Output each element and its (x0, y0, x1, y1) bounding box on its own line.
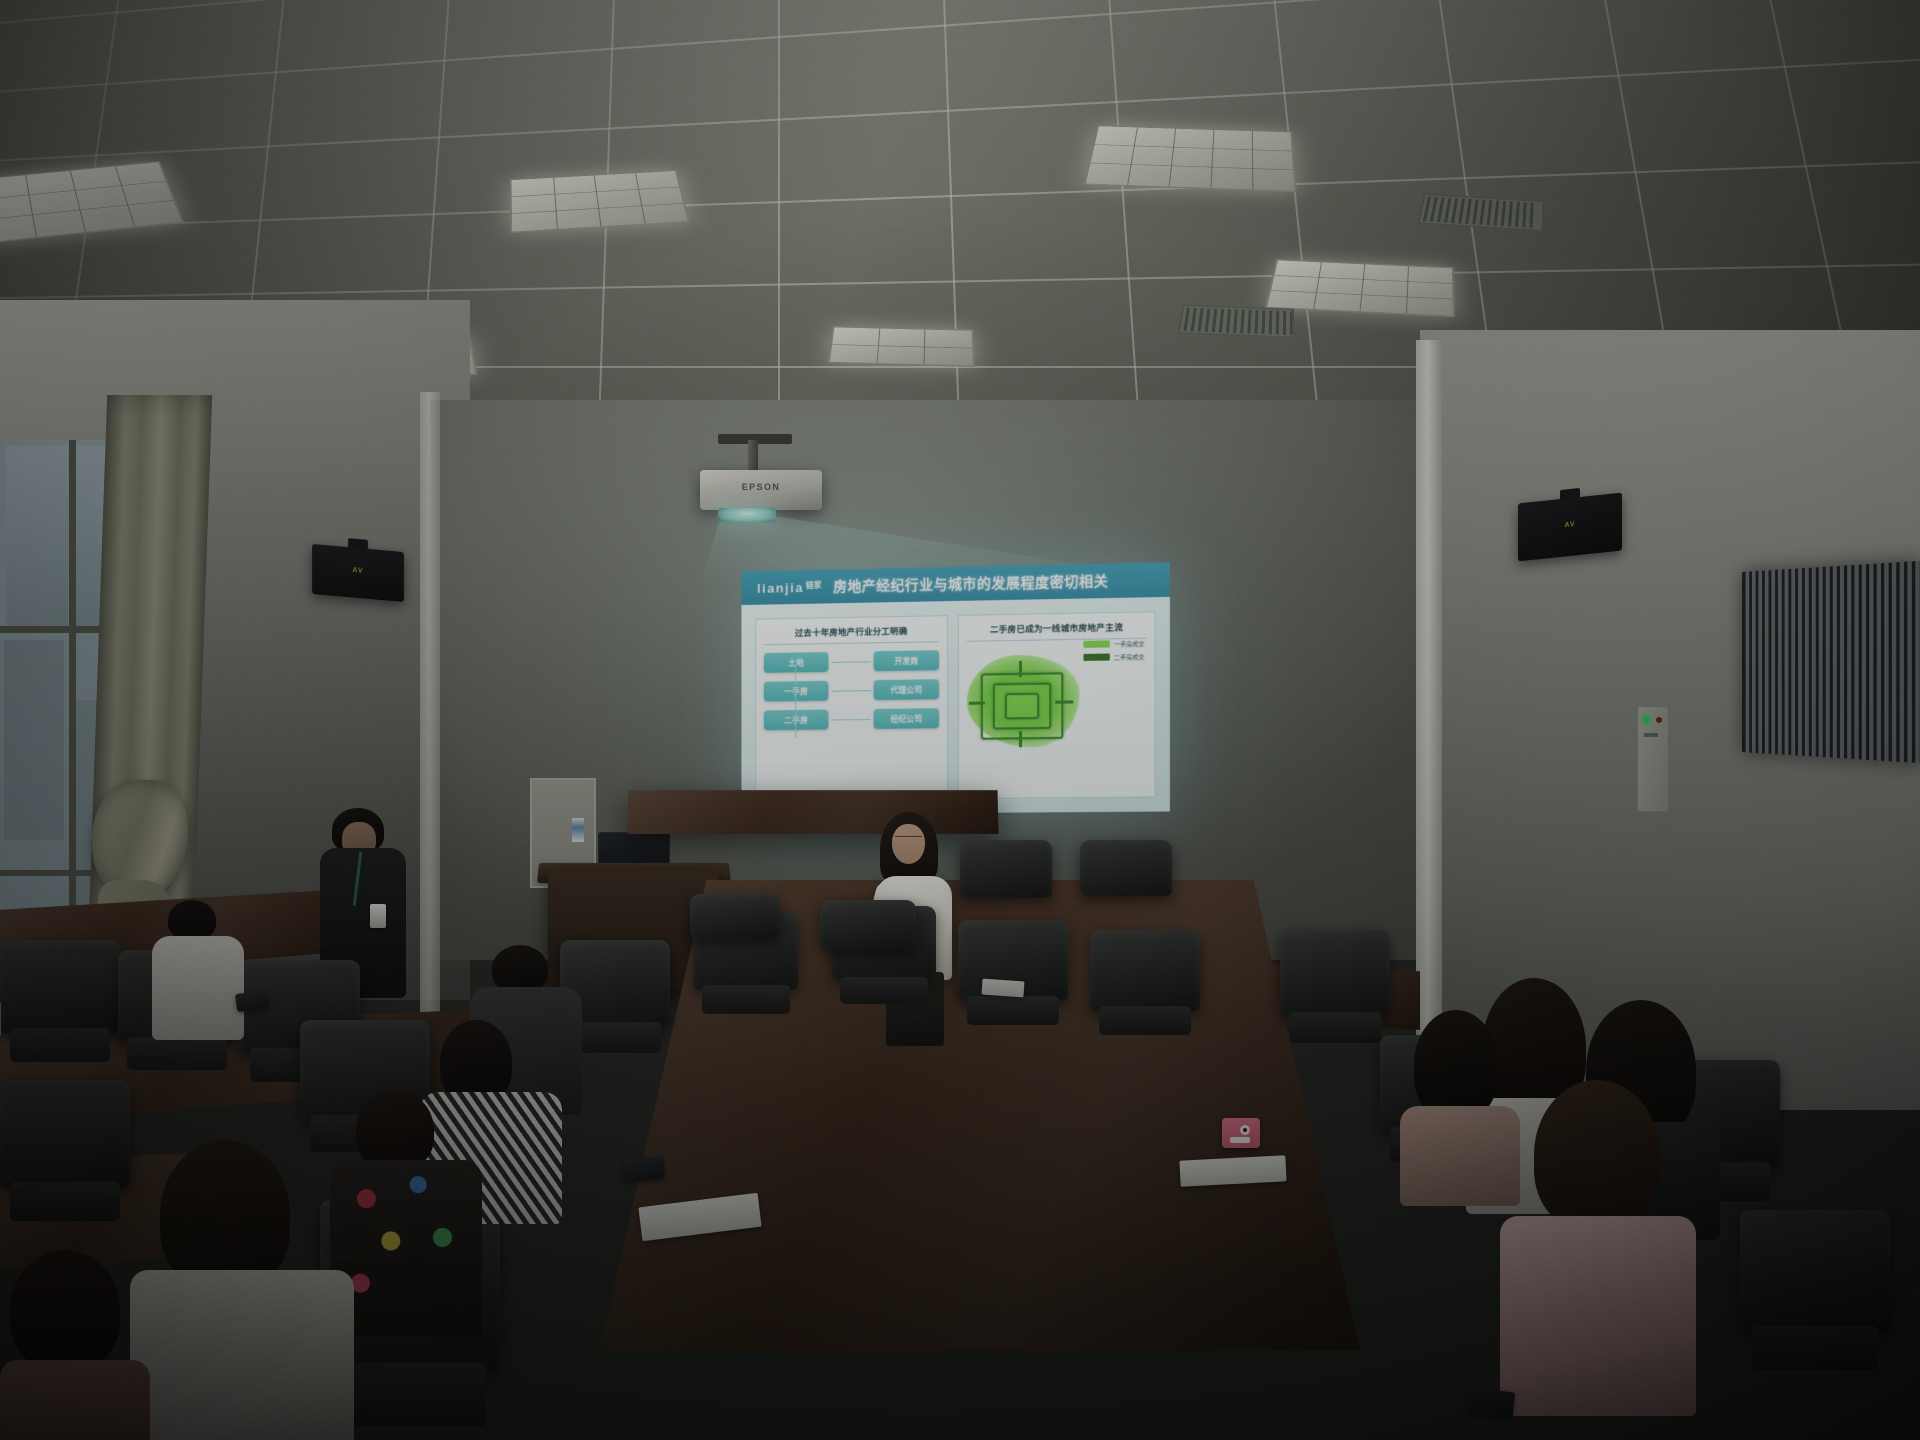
conference-chair[interactable] (1090, 930, 1200, 1042)
grille-bar (1854, 565, 1858, 760)
vent-slat (1269, 311, 1273, 335)
lianjia-logo-chinese: 链家 (806, 580, 822, 589)
lianjia-logo-latin: LIANJIA (757, 580, 804, 596)
seated-attendee (1500, 1080, 1690, 1410)
speaker-brand-label: AV (1564, 521, 1575, 529)
chair-seat (569, 1022, 661, 1053)
wall-corner-column (420, 392, 440, 1012)
map-legend: 一手房成交 二手房成交 (1083, 639, 1144, 662)
vent-slat (1183, 308, 1190, 332)
attendee-white-shirt (130, 1270, 354, 1440)
grille-bar (1869, 564, 1873, 760)
chair-back (1090, 930, 1200, 1011)
slide-title: 房地产经纪行业与城市的发展程度密切相关 (833, 571, 1108, 597)
id-badge (370, 904, 386, 928)
conference-chair[interactable] (1280, 930, 1390, 1050)
conference-chair[interactable] (0, 1080, 130, 1230)
radial-road (1019, 661, 1022, 677)
wall-air-grille (1742, 561, 1920, 764)
chair-seat (10, 1028, 111, 1062)
wall-speaker-left: AV (312, 544, 404, 602)
chair-back (1280, 930, 1390, 1016)
projector: EPSON (700, 470, 822, 510)
ceiling-light-fixture (1083, 125, 1296, 192)
flow-connector (831, 690, 870, 692)
vent-slat (1247, 310, 1251, 334)
wall-control-panel[interactable] (1637, 706, 1669, 812)
flow-box-target: 经纪公司 (874, 708, 939, 729)
door-notice-tag (572, 818, 584, 842)
vent-slat (1444, 198, 1451, 223)
projector-lens (718, 508, 776, 522)
vent-slat (1254, 310, 1258, 334)
grille-bar (1892, 562, 1896, 761)
grille-bar (1798, 568, 1802, 756)
chair-seat (702, 985, 789, 1013)
slide-body: 过去十年房地产行业分工明确 土地 开发商 一手房 代理公司 二手房 (741, 597, 1169, 815)
seated-attendee (1400, 1010, 1520, 1200)
chair-seat (1289, 1012, 1381, 1043)
slide-right-panel: 二手房已成为一线城市房地产主流 一手房成交 二手房成交 (958, 611, 1156, 799)
vent-slat (1262, 310, 1266, 334)
flow-row: 一手房 代理公司 (764, 679, 939, 701)
grille-bar (1819, 567, 1823, 757)
slide-surface: LIANJIA链家 房地产经纪行业与城市的发展程度密切相关 过去十年房地产行业分… (741, 562, 1169, 814)
ceiling-grid-line (0, 151, 1920, 244)
grille-bar (1900, 562, 1904, 762)
presenter-face (892, 824, 925, 864)
vent-slat (1508, 201, 1513, 226)
chair-seat (1752, 1326, 1878, 1370)
grille-bar (1771, 570, 1775, 754)
flow-box-target: 代理公司 (874, 679, 939, 700)
flow-connector (831, 661, 870, 663)
speaker-mount-bracket (1560, 488, 1580, 500)
speaker-mount-bracket (348, 538, 368, 550)
chair-seat (967, 996, 1059, 1025)
vent-slat (1240, 310, 1245, 334)
grille-bar (1758, 571, 1762, 754)
ceiling-air-vent (1178, 305, 1294, 338)
grille-bar (1805, 568, 1809, 756)
chair-back (960, 840, 1052, 898)
chair-back (1080, 840, 1172, 896)
projector-mount-arm (748, 440, 758, 474)
ring-road-inner (1005, 693, 1039, 720)
vent-slat (1515, 202, 1520, 227)
ceiling-grid-line (0, 259, 1920, 306)
vent-slat (1190, 308, 1196, 332)
city-ring-road-map (967, 654, 1079, 748)
grille-bar (1840, 566, 1844, 759)
attendee-top (1400, 1106, 1520, 1206)
conference-chair[interactable] (958, 920, 1068, 1032)
seated-attendee (0, 1250, 150, 1440)
slide-left-panel: 过去十年房地产行业分工明确 土地 开发商 一手房 代理公司 二手房 (755, 615, 948, 800)
vent-slat (1437, 197, 1445, 222)
projector-brand-label: EPSON (742, 482, 781, 492)
chair-back (820, 900, 916, 950)
attendee-hair (1414, 1010, 1498, 1120)
attendee-pink-top (1500, 1216, 1696, 1416)
seated-attendee (152, 900, 242, 1040)
vent-slat (1212, 309, 1218, 333)
grille-bar (1765, 570, 1769, 753)
vent-slat (1219, 309, 1224, 333)
vent-slat (1451, 198, 1458, 223)
conference-chair[interactable] (1080, 840, 1172, 918)
vent-slat (1501, 201, 1506, 226)
mobile-phone[interactable] (1467, 1388, 1515, 1419)
radial-road (1055, 700, 1073, 703)
flow-box-target: 开发商 (874, 650, 939, 671)
panel-button[interactable] (1656, 717, 1662, 723)
radial-road (969, 702, 985, 705)
grille-bar (1884, 563, 1888, 761)
conference-chair[interactable] (690, 894, 780, 956)
legend-label: 二手房成交 (1114, 652, 1145, 662)
chair-back (690, 894, 780, 939)
ceiling-grid-line (0, 0, 1920, 58)
vent-slat (1494, 201, 1500, 226)
grille-bar (1847, 565, 1851, 759)
legend-swatch (1083, 640, 1109, 647)
flow-box-source: 二手房 (764, 710, 829, 731)
vent-slat (1205, 308, 1211, 332)
conference-chair[interactable] (0, 940, 120, 1070)
vent-slat (1479, 200, 1485, 225)
pink-pouch[interactable] (1222, 1118, 1260, 1148)
grille-bar (1915, 561, 1920, 763)
chair-arm (0, 1002, 1, 1036)
legend-label: 一手房成交 (1114, 639, 1145, 649)
chair-back (0, 1080, 130, 1188)
attendee-hair (10, 1250, 120, 1370)
flow-box-source: 一手房 (764, 681, 829, 702)
left-panel-heading: 过去十年房地产行业分工明确 (764, 624, 939, 645)
ceiling-grid-line (0, 44, 1920, 182)
legend-swatch (1083, 653, 1109, 660)
mobile-phone[interactable] (623, 1156, 665, 1181)
vent-slat (1290, 311, 1293, 335)
attendee-top (0, 1360, 150, 1440)
attendee-hair (1534, 1080, 1660, 1230)
grille-bar (1791, 569, 1795, 756)
conference-room-scene: AV AV EPSON LIANJIA链家 房地产经纪行业与城市的发展程度密切相… (0, 0, 1920, 1440)
vent-slat (1529, 203, 1533, 228)
grille-bar (1746, 572, 1750, 753)
vent-slat (1486, 200, 1492, 225)
attendee-hair (492, 945, 548, 993)
vent-slat (1472, 199, 1478, 224)
attendee-hair (160, 1140, 290, 1290)
vent-slat (1198, 308, 1204, 332)
grille-bar (1785, 569, 1789, 755)
chair-back (1740, 1210, 1890, 1332)
ceiling-grid-line (0, 0, 1920, 120)
chair-seat (10, 1182, 119, 1221)
conference-chair[interactable] (960, 840, 1052, 920)
radial-road (1019, 731, 1022, 747)
conference-chair[interactable] (820, 900, 916, 970)
attendee-hair (168, 900, 216, 940)
vent-slat (1226, 309, 1231, 333)
grille-bar (1826, 566, 1830, 757)
vent-slat (1233, 309, 1238, 333)
grille-bar (1833, 566, 1837, 758)
papers-on-table[interactable] (981, 979, 1024, 998)
flow-vertical-connector (795, 666, 796, 737)
grille-bar (1862, 564, 1866, 760)
ceiling-light-fixture (828, 326, 975, 367)
conference-chair[interactable] (1740, 1210, 1890, 1380)
grille-bar (1778, 570, 1782, 755)
vent-slat (1465, 199, 1472, 224)
power-led-indicator (1643, 716, 1650, 723)
ceiling-light-fixture (509, 170, 689, 234)
flow-row: 二手房 经纪公司 (764, 708, 939, 730)
lianjia-logo: LIANJIA链家 (757, 579, 822, 595)
vent-slat (1458, 198, 1465, 223)
presenter-glasses (895, 836, 922, 843)
pouch-mouth-icon (1230, 1137, 1250, 1143)
rolled-papers[interactable] (1179, 1155, 1286, 1187)
grille-bar (1812, 567, 1816, 756)
chair-seat (1099, 1006, 1191, 1035)
chair-back (0, 940, 120, 1034)
flow-connector (831, 719, 870, 720)
panel-label (1644, 733, 1658, 737)
vent-slat (1283, 311, 1286, 335)
flow-row: 土地 开发商 (764, 650, 939, 673)
chair-seat (334, 1363, 485, 1425)
attendee-hair (356, 1090, 434, 1170)
chair-seat (127, 1037, 226, 1070)
attendee-shirt (152, 936, 244, 1040)
grille-bar (1752, 571, 1756, 753)
vent-slat (1522, 202, 1527, 227)
projection-screen: LIANJIA链家 房地产经纪行业与城市的发展程度密切相关 过去十年房地产行业分… (741, 562, 1169, 814)
seated-attendee (130, 1140, 350, 1440)
chair-seat (840, 977, 927, 1004)
pouch-eye-icon (1240, 1125, 1250, 1135)
vent-slat (1276, 311, 1279, 335)
wall-speaker-right: AV (1518, 493, 1622, 562)
legend-entry: 二手房成交 (1083, 652, 1144, 662)
legend-entry: 一手房成交 (1083, 639, 1144, 649)
speaker-brand-label: AV (352, 567, 363, 575)
grille-bar (1907, 561, 1911, 762)
grille-bar (1877, 563, 1881, 760)
flow-box-source: 土地 (764, 652, 829, 673)
